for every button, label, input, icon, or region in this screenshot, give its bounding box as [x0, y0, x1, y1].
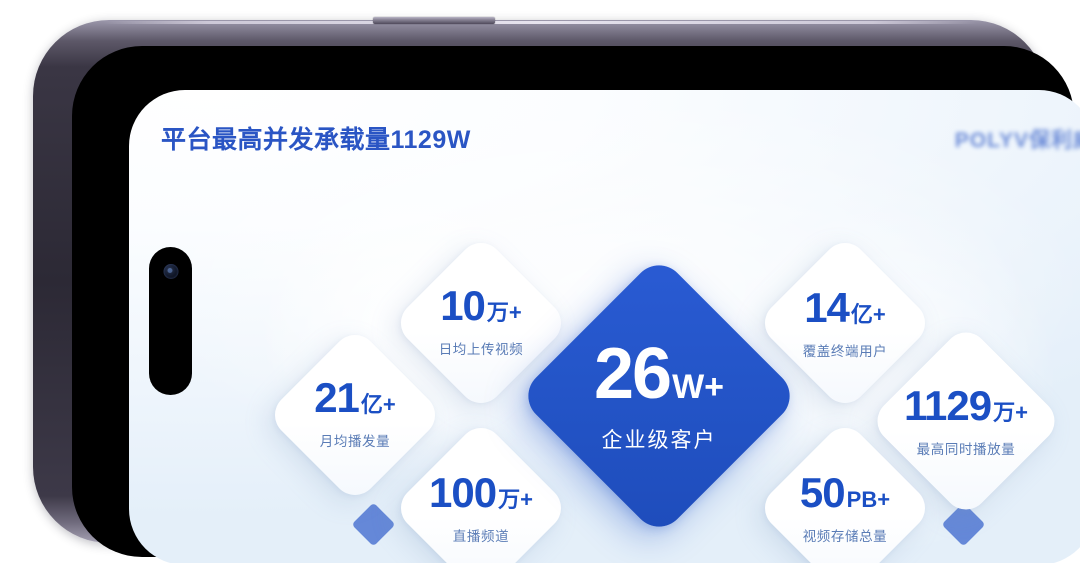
frame-rail-top — [103, 21, 977, 24]
stat-number: 10 — [440, 285, 485, 327]
stat-unit: 万+ — [487, 302, 522, 324]
stat-unit: 万+ — [993, 402, 1028, 424]
stat-unit: 万+ — [498, 489, 533, 511]
stat-value: 50 PB+ — [800, 472, 890, 514]
stat-unit: 亿+ — [851, 304, 886, 326]
stat-label: 企业级客户 — [602, 424, 717, 454]
stat-number: 50 — [800, 472, 845, 514]
stat-unit: PB+ — [847, 489, 890, 511]
stat-label: 最高同时播放量 — [917, 438, 1016, 458]
stat-card-live-channels[interactable]: 100 万+ 直播频道 — [392, 419, 570, 563]
stat-number: 26 — [594, 338, 670, 410]
stat-value: 100 万+ — [429, 472, 533, 514]
phone-screen-bezel: 平台最高并发承载量1129W POLYV保利威 10 万+ — [72, 46, 1074, 557]
stat-label: 覆盖终端用户 — [803, 340, 888, 360]
stat-unit: 亿+ — [361, 394, 396, 416]
stat-card-enterprise-customers[interactable]: 26 W+ 企业级客户 — [518, 255, 801, 538]
stat-value: 1129 万+ — [904, 385, 1028, 427]
stat-label: 月均播发量 — [320, 430, 391, 450]
stat-value: 10 万+ — [440, 285, 522, 327]
stat-value: 21 亿+ — [314, 377, 396, 419]
stat-unit: W+ — [672, 370, 724, 404]
phone-device-frame: 平台最高并发承载量1129W POLYV保利威 10 万+ — [33, 20, 1047, 543]
stats-infographic: 10 万+ 日均上传视频 21 亿+ 月均播发量 — [129, 90, 1080, 563]
stat-number: 100 — [429, 472, 496, 514]
power-button[interactable] — [373, 17, 495, 24]
stat-number: 21 — [314, 377, 359, 419]
stat-label: 日均上传视频 — [439, 338, 524, 358]
phone-screen[interactable]: 平台最高并发承载量1129W POLYV保利威 10 万+ — [129, 90, 1080, 563]
stat-number: 14 — [804, 287, 849, 329]
stat-number: 1129 — [904, 385, 991, 427]
accent-diamond-left — [352, 503, 396, 547]
stat-value: 14 亿+ — [804, 287, 886, 329]
stat-label: 直播频道 — [453, 525, 509, 545]
screenshot-canvas: 平台最高并发承载量1129W POLYV保利威 10 万+ — [0, 0, 1080, 563]
stat-label: 视频存储总量 — [803, 525, 888, 545]
stat-value: 26 W+ — [594, 338, 724, 410]
